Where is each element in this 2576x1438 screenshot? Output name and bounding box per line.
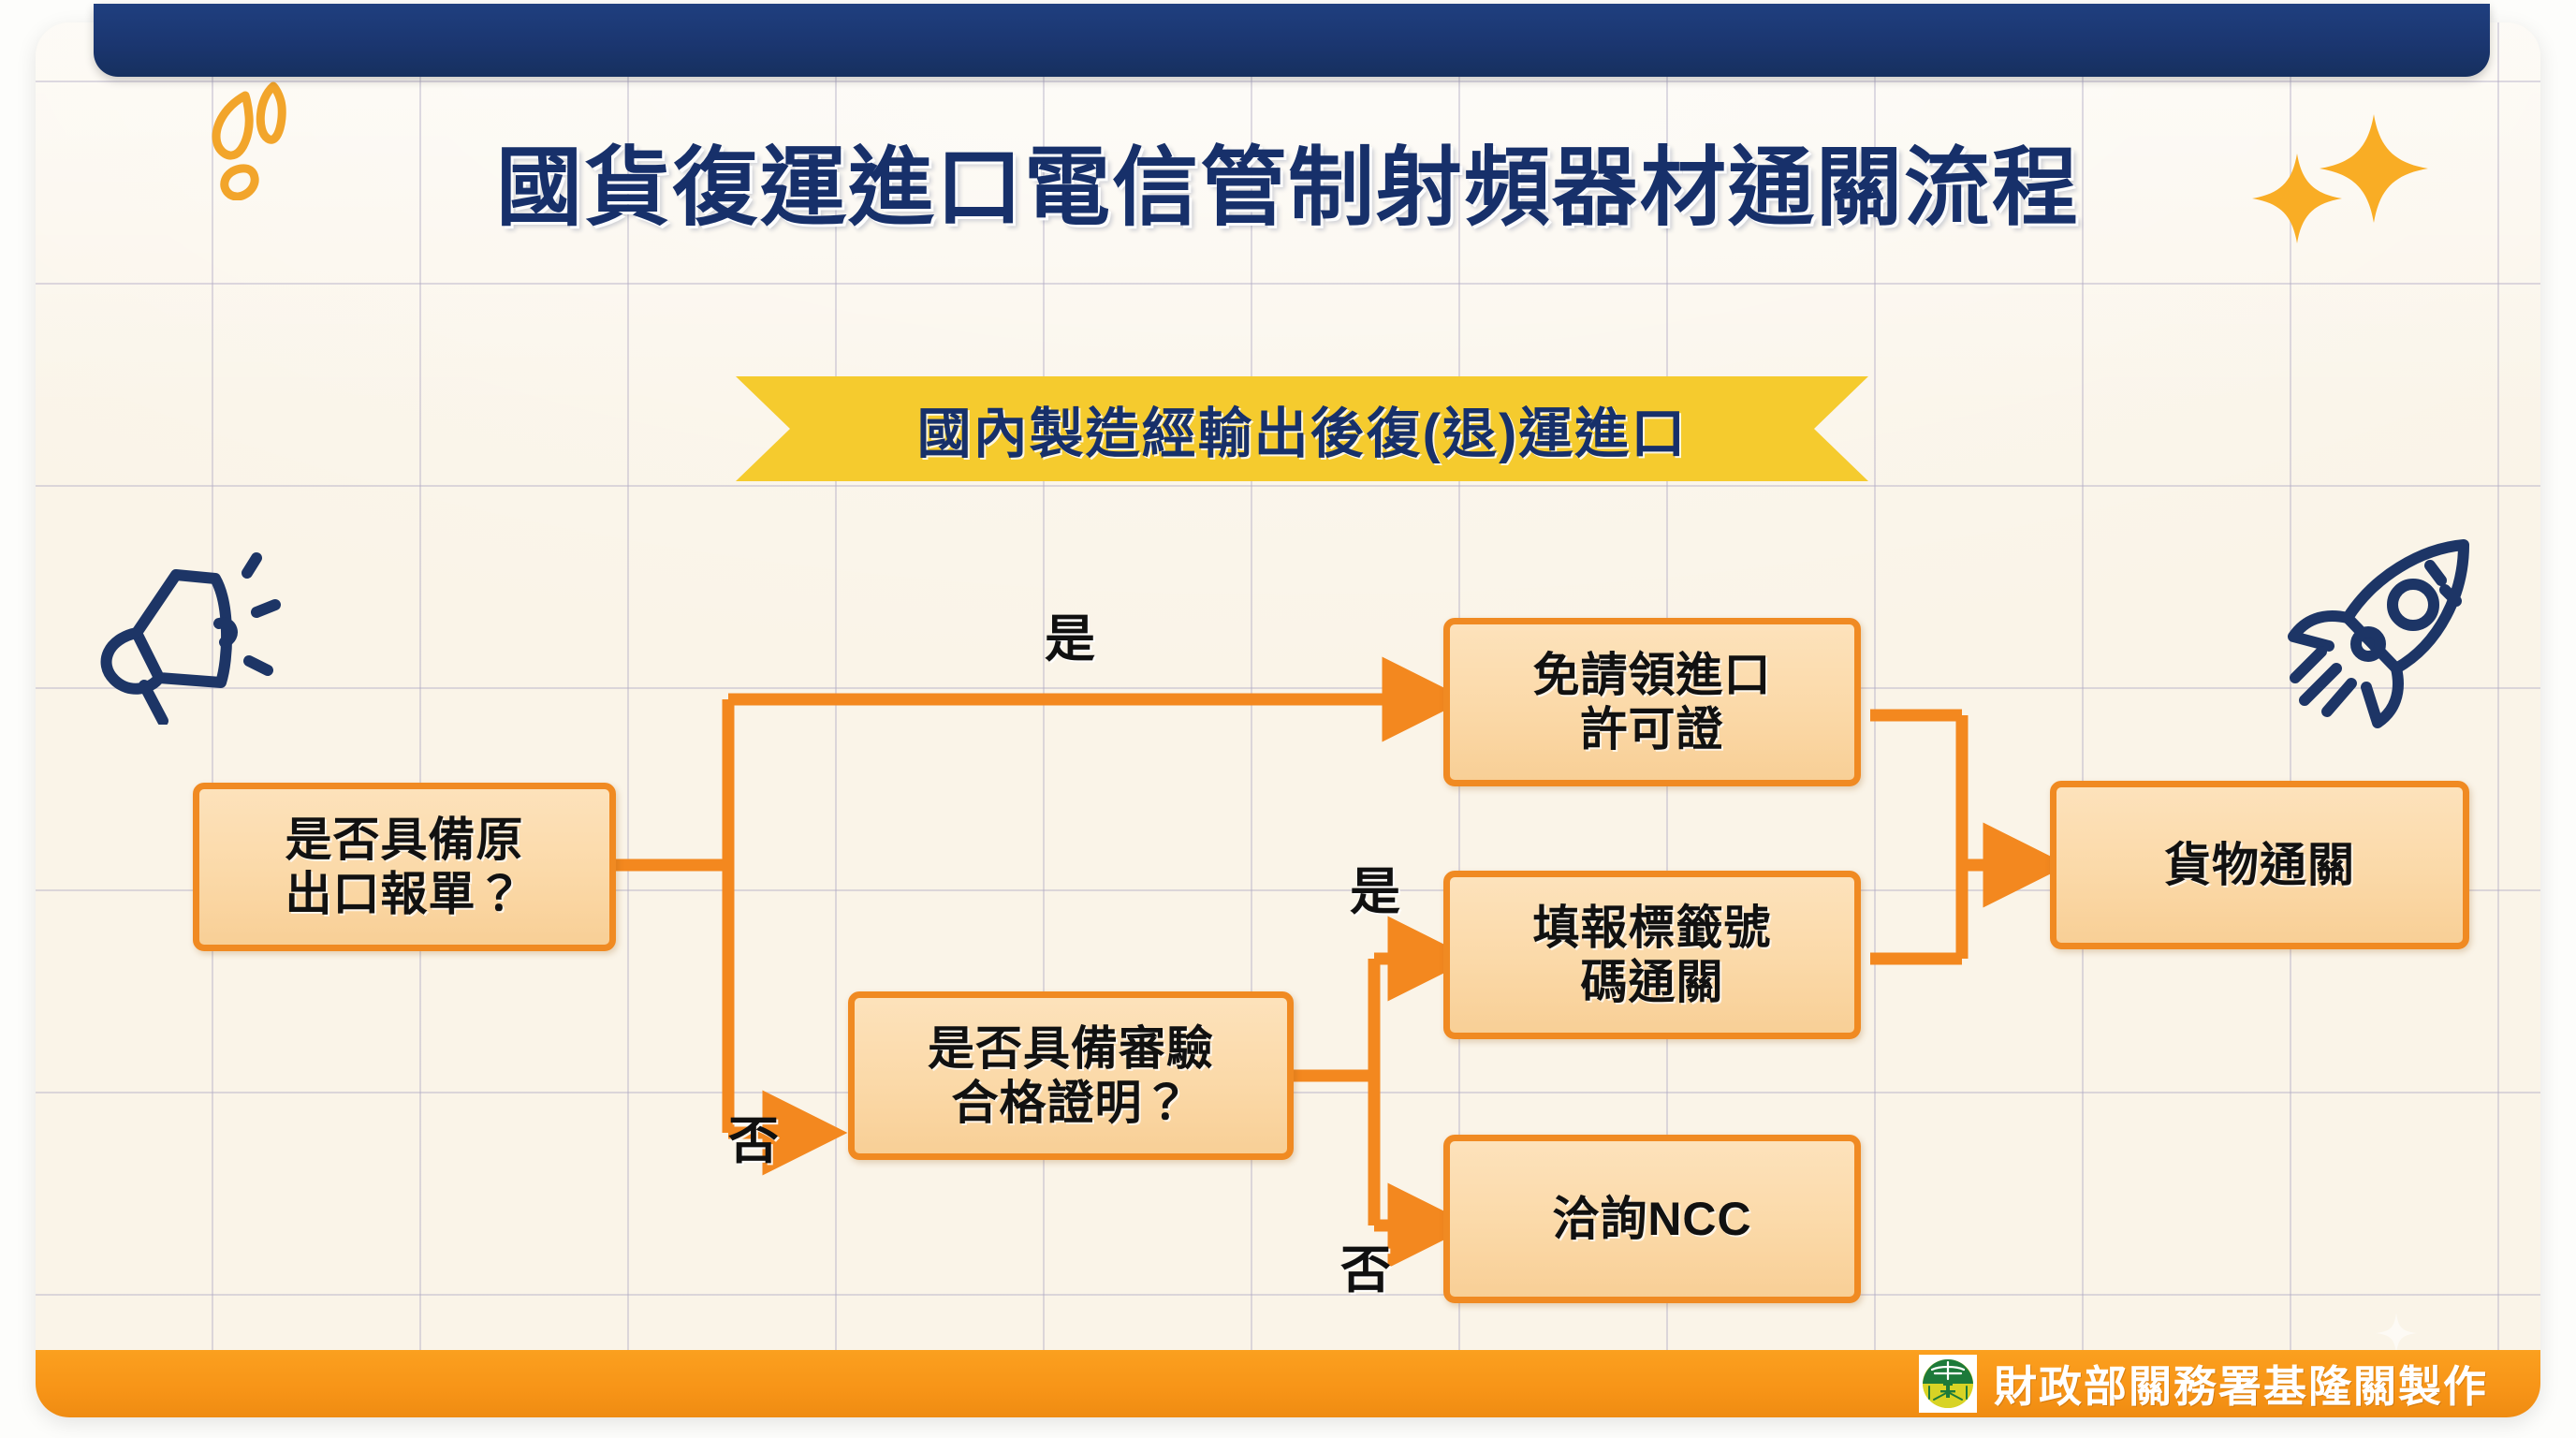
flow-connectors [36, 22, 2540, 1417]
edge-label-q1-no: 否 [728, 1116, 779, 1167]
edge-label-q2-yes: 是 [1350, 867, 1400, 917]
customs-emblem-icon [1919, 1355, 1977, 1413]
node-decision-inspection-certificate[interactable]: 是否具備審驗 合格證明？ [848, 991, 1294, 1160]
footer-bar: 財政部關務署基隆關製作 [36, 1350, 2540, 1417]
footer-credit: 財政部關務署基隆關製作 [1994, 1353, 2488, 1415]
node-label: 填報標籤號 碼通關 [1522, 901, 1783, 1009]
subtitle-ribbon: 國內製造經輸出後復(退)運進口 [736, 376, 1868, 481]
node-outcome-no-import-permit[interactable]: 免請領進口 許可證 [1443, 618, 1861, 786]
flowchart: 是否具備原 出口報單？ 是否具備審驗 合格證明？ 免請領進口 許可證 填報標籤號… [36, 22, 2540, 1417]
infographic-poster: 國貨復運進口電信管制射頻器材通關流程 國內製造經輸出後復(退)運進口 [0, 0, 2576, 1438]
node-outcome-contact-ncc[interactable]: 洽詢NCC [1443, 1135, 1861, 1303]
node-outcome-declare-label-number[interactable]: 填報標籤號 碼通關 [1443, 871, 1861, 1039]
megaphone-icon [82, 547, 298, 725]
subtitle-text: 國內製造經輸出後復(退)運進口 [736, 376, 1868, 481]
footer-sparkle-icon [2376, 1313, 2417, 1354]
node-label: 洽詢NCC [1541, 1192, 1763, 1246]
top-navy-bar [94, 4, 2490, 77]
node-decision-original-export-declaration[interactable]: 是否具備原 出口報單？ [193, 783, 616, 951]
node-label: 是否具備審驗 合格證明？ [916, 1021, 1225, 1130]
node-label: 貨物通關 [2153, 838, 2366, 892]
rocket-icon [2280, 528, 2495, 734]
node-label: 免請領進口 許可證 [1522, 648, 1783, 756]
node-label: 是否具備原 出口報單？ [274, 813, 535, 921]
poster-card: 國貨復運進口電信管制射頻器材通關流程 國內製造經輸出後復(退)運進口 [36, 22, 2540, 1417]
edge-label-q1-yes: 是 [1045, 614, 1095, 665]
edge-label-q2-no: 否 [1340, 1245, 1391, 1296]
node-outcome-cargo-clearance[interactable]: 貨物通關 [2050, 781, 2469, 949]
